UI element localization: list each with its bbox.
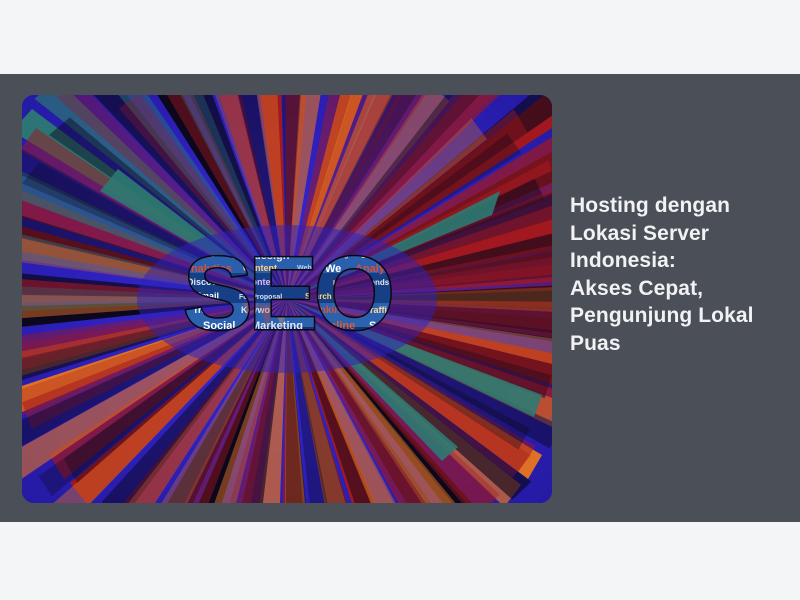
seo-wordmark: marketing SEO Webdesign marketing SEO We… — [22, 247, 552, 351]
hero-heading: Hosting dengan Lokasi Server Indonesia: … — [570, 192, 785, 357]
screenshot-root: marketing SEO Webdesign marketing SEO We… — [0, 0, 800, 600]
hero-panel: marketing SEO Webdesign marketing SEO We… — [0, 74, 800, 522]
svg-text:SEO: SEO — [183, 247, 391, 351]
hero-image-card[interactable]: marketing SEO Webdesign marketing SEO We… — [22, 95, 552, 503]
